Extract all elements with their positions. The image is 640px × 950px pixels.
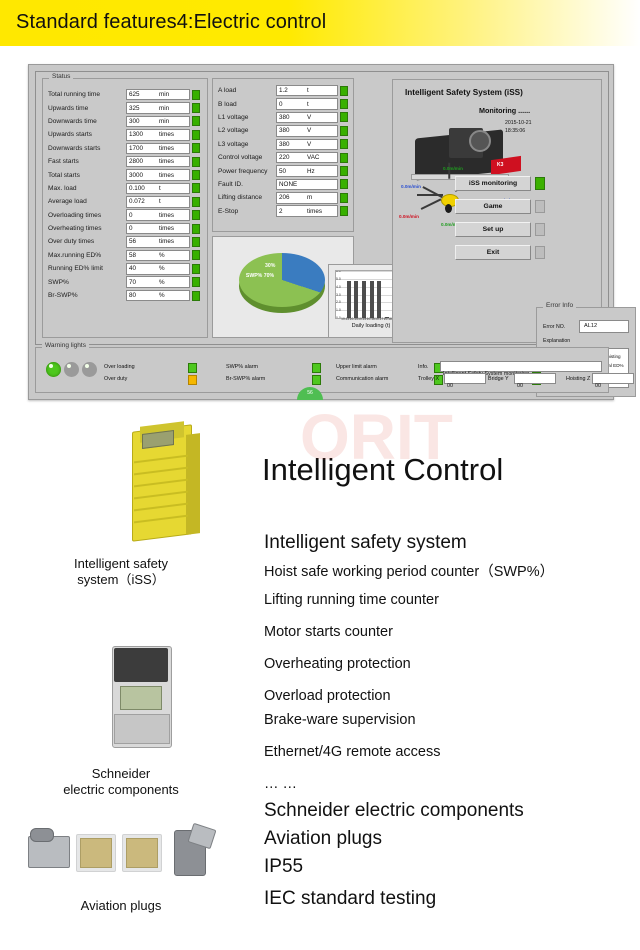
arrow-upleft [423, 186, 443, 198]
measure-led-4 [340, 139, 348, 149]
swp-pie-chart: 30% SWP% 70% [221, 241, 343, 321]
measure-led-0 [340, 86, 348, 96]
coord-field-2[interactable]: 00 [592, 373, 634, 384]
measure-value-0: 1.2 [277, 87, 307, 94]
status-field-12[interactable]: 58% [126, 250, 190, 262]
hoist-red-block [491, 156, 521, 175]
measure-value-8: 206 [277, 194, 307, 201]
status-led-2 [192, 116, 200, 126]
measure-unit-0: t [307, 87, 309, 94]
bar-3 [370, 281, 374, 318]
x-tick-0: 10-13 [341, 317, 349, 321]
status-value-3: 1300 [127, 131, 159, 138]
measure-value-5: 220 [277, 154, 307, 161]
status-field-2[interactable]: 300min [126, 116, 190, 128]
status-unit-2: min [159, 118, 169, 125]
table-row: Upwards time325min [48, 101, 203, 114]
status-field-13[interactable]: 40% [126, 263, 190, 275]
status-value-13: 40 [127, 265, 159, 272]
bar-0 [347, 281, 351, 318]
coord-label-0: Trolley X [418, 376, 439, 382]
status-label-1: Upwards time [48, 105, 126, 112]
x-tick-3: 10-16 [367, 317, 375, 321]
status-label-10: Overheating times [48, 225, 126, 232]
error-no-field[interactable]: AL12 [579, 320, 629, 333]
lamp-1 [46, 362, 61, 377]
y-tick-3: 3.0 [336, 293, 341, 297]
pie-label-blue: 30% [265, 263, 275, 269]
measure-value-9: 2 [277, 208, 307, 215]
error-info-legend: Error Info [543, 302, 576, 309]
status-label-12: Max.running ED% [48, 252, 126, 259]
status-unit-14: % [159, 279, 165, 286]
status-value-10: 0 [127, 225, 159, 232]
plug-frame-1 [76, 834, 116, 872]
status-value-1: 325 [127, 105, 159, 112]
table-row: L3 voltage380V [218, 138, 350, 151]
slide-page: Standard features4:Electric control Stat… [0, 0, 640, 950]
measure-value-7: NONE [277, 181, 307, 188]
measure-label-8: Lifting distance [218, 194, 276, 201]
panel-button-led-2 [535, 223, 545, 236]
schneider-bottom-panel [114, 714, 170, 744]
status-led-12 [192, 250, 200, 260]
table-row: Over duty times56times [48, 235, 203, 248]
caption-iss-line1: Intelligent safety [6, 556, 236, 572]
status-value-9: 0 [127, 212, 159, 219]
footer-item-2: IP55 [264, 856, 303, 878]
y-tick-2: 4.0 [336, 285, 341, 289]
caption-schneider-line1: Schneider [6, 766, 236, 782]
explanation-label: Explanation [543, 338, 570, 344]
status-label-14: SWP% [48, 279, 126, 286]
measure-label-0: A load [218, 87, 276, 94]
feature-item-6: Ethernet/4G remote access [264, 744, 441, 760]
warning-led-2 [312, 363, 321, 373]
y-tick-1: 5.0 [336, 277, 341, 281]
measure-unit-3: V [307, 127, 311, 134]
warning-label-0: Over loading [104, 364, 135, 370]
status-field-8[interactable]: 0.072t [126, 196, 190, 208]
status-field-7[interactable]: 0.100t [126, 183, 190, 195]
status-value-0: 625 [127, 91, 159, 98]
measure-label-4: L3 voltage [218, 141, 276, 148]
schneider-top-panel [114, 648, 168, 682]
footer-item-3: IEC standard testing [264, 888, 436, 910]
measure-label-1: B load [218, 101, 276, 108]
status-led-7 [192, 183, 200, 193]
measure-label-9: E-Stop [218, 208, 276, 215]
error-no-value: AL12 [580, 321, 628, 332]
caption-schneider-line2: electric components [6, 782, 236, 798]
footer-item-0: Schneider electric components [264, 800, 524, 822]
status-field-11[interactable]: 56times [126, 236, 190, 248]
hoist-drum [469, 130, 491, 152]
status-unit-7: t [159, 185, 161, 192]
hook [445, 204, 452, 213]
status-field-6[interactable]: 3000times [126, 169, 190, 181]
feature-item-5: Brake-ware supervision [264, 712, 416, 728]
caption-schneider: Schneider electric components [6, 766, 236, 798]
table-row: SWP%70% [48, 275, 203, 288]
iss-panel-title: Intelligent Safety System (iSS) [405, 88, 523, 97]
measure-value-4: 380 [277, 141, 307, 148]
measure-led-9 [340, 206, 348, 216]
status-label-0: Total running time [48, 91, 126, 98]
coord-label-2: Hoisting Z [566, 376, 590, 382]
speed-up: 0.0m/min [443, 166, 463, 171]
warning-legend: Warning lights [42, 342, 89, 349]
measure-unit-8: m [307, 194, 312, 201]
status-value-8: 0.072 [127, 198, 159, 205]
measure-label-2: L1 voltage [218, 114, 276, 121]
status-led-4 [192, 143, 200, 153]
warning-label-5: Communication alarm [336, 376, 388, 382]
table-row: Power frequency50Hz [218, 164, 350, 177]
speed-downleft: 0.0m/min [399, 214, 419, 219]
info-field[interactable]: Intelligent Safety System monitoring [440, 361, 602, 372]
feature-item-0: Hoist safe working period counter（SWP%） [264, 560, 554, 581]
warning-led-1 [188, 375, 197, 385]
measure-label-7: Fault ID. [218, 181, 276, 188]
coord-field-0[interactable]: 00 [444, 373, 486, 384]
pie-label-green: SWP% 70% [243, 273, 277, 279]
table-row: Control voltage220VAC [218, 151, 350, 164]
table-row: Total running time625min [48, 88, 203, 101]
table-row: L2 voltage380V [218, 124, 350, 137]
table-row: E-Stop2times [218, 205, 350, 218]
status-field-9[interactable]: 0times [126, 209, 190, 221]
warning-label-1: Over duty [104, 376, 127, 382]
panel-button-led-0 [535, 177, 545, 190]
panel-button-led-3 [535, 246, 545, 259]
status-unit-9: times [159, 212, 174, 219]
status-label-11: Over duty times [48, 238, 126, 245]
bar-2 [362, 281, 366, 318]
status-group-legend: Status [49, 73, 73, 80]
status-label-2: Downwards time [48, 118, 126, 125]
panel-button-game[interactable]: Game [455, 199, 531, 214]
plug-frame-2 [122, 834, 162, 872]
status-led-1 [192, 103, 200, 113]
y-axis: 6.05.04.03.02.01.00.0 [336, 271, 345, 318]
hmi-screenshot: Status Total running time625minUpwards t… [28, 64, 614, 400]
status-label-15: Br-SWP% [48, 292, 126, 299]
status-unit-4: times [159, 145, 174, 152]
coord-field-1[interactable]: 00 [514, 373, 556, 384]
table-row: Total starts3000times [48, 168, 203, 181]
table-row: L1 voltage380V [218, 111, 350, 124]
caption-plugs-line1: Aviation plugs [6, 898, 236, 914]
status-value-4: 1700 [127, 145, 159, 152]
status-value-6: 3000 [127, 172, 159, 179]
status-value-12: 58 [127, 252, 159, 259]
table-row: Average load0.072t [48, 195, 203, 208]
caption-plugs: Aviation plugs [6, 898, 236, 914]
table-row: Br-SWP%80% [48, 289, 203, 302]
measure-label-6: Power frequency [218, 168, 276, 175]
status-led-8 [192, 197, 200, 207]
measure-field-1[interactable]: 0t [276, 98, 338, 110]
status-unit-15: % [159, 292, 165, 299]
y-tick-0: 6.0 [336, 270, 341, 273]
warning-label-3: Br-SWP% alarm [226, 376, 265, 382]
status-label-3: Upwards starts [48, 131, 126, 138]
status-led-3 [192, 130, 200, 140]
lamp-2 [64, 362, 79, 377]
table-row: Lifting distance206m [218, 191, 350, 204]
table-row: Upwards starts1300times [48, 128, 203, 141]
status-field-1[interactable]: 325min [126, 102, 190, 114]
section-title: Intelligent safety system [264, 532, 467, 554]
warning-led-3 [312, 375, 321, 385]
measure-led-2 [340, 112, 348, 122]
plug-neck-1 [30, 828, 54, 842]
measure-unit-4: V [307, 141, 311, 148]
page-title: Standard features4:Electric control [16, 11, 326, 34]
status-value-15: 80 [127, 292, 159, 299]
measure-field-6[interactable]: 50Hz [276, 165, 338, 177]
pie-slices [239, 253, 325, 307]
y-tick-6: 0.0 [336, 316, 341, 319]
status-led-6 [192, 170, 200, 180]
measurement-row-list: A load1.2tB load0tL1 voltage380VL2 volta… [218, 84, 350, 218]
coord-value-0: 00 [445, 383, 453, 389]
warning-lights-bar: Warning lights Over loadingOver dutySWP%… [35, 347, 609, 393]
feature-item-3: Overheating protection [264, 656, 411, 672]
status-field-3[interactable]: 1300times [126, 129, 190, 141]
status-field-10[interactable]: 0times [126, 223, 190, 235]
measurement-group: A load1.2tB load0tL1 voltage380VL2 volta… [212, 78, 354, 232]
measure-led-8 [340, 193, 348, 203]
status-row-list: Total running time625minUpwards time325m… [48, 88, 203, 302]
status-label-13: Running ED% limit [48, 265, 126, 272]
table-row: Fault ID.NONE [218, 178, 350, 191]
table-row: Overloading times0times [48, 209, 203, 222]
caption-iss: Intelligent safety system（iSS） [6, 556, 236, 588]
schneider-display [120, 686, 162, 710]
schneider-device-image [104, 640, 178, 752]
error-no-label: Error NO. [543, 324, 565, 330]
table-row: A load1.2t [218, 84, 350, 97]
status-field-15[interactable]: 80% [126, 290, 190, 302]
measure-unit-5: VAC [307, 154, 319, 161]
status-led-9 [192, 210, 200, 220]
feature-item-1: Lifting running time counter [264, 592, 439, 608]
table-row: Overheating times0times [48, 222, 203, 235]
status-group: Status Total running time625minUpwards t… [42, 78, 208, 338]
status-field-0[interactable]: 625min [126, 89, 190, 101]
panel-button-exit[interactable]: Exit [455, 245, 531, 260]
status-value-2: 300 [127, 118, 159, 125]
x-tick-1: 10-14 [350, 317, 358, 321]
panel-button-led-1 [535, 200, 545, 213]
info-label: Info. [418, 364, 429, 370]
y-tick-5: 1.0 [336, 308, 341, 312]
lamp-3 [82, 362, 97, 377]
status-value-5: 2800 [127, 158, 159, 165]
footer-item-1: Aviation plugs [264, 828, 382, 850]
measure-led-6 [340, 166, 348, 176]
arrow-downleft [421, 198, 441, 209]
panel-button-set-up[interactable]: Set up [455, 222, 531, 237]
status-unit-0: min [159, 91, 169, 98]
status-unit-3: times [159, 131, 174, 138]
measure-led-3 [340, 126, 348, 136]
panel-button-iss-monitoring[interactable]: iSS monitoring [455, 176, 531, 191]
table-row: Downwards starts1700times [48, 142, 203, 155]
aviation-plugs-image [22, 822, 228, 890]
speed-left: 0.0m/min [401, 184, 421, 189]
status-unit-12: % [159, 252, 165, 259]
measure-field-9[interactable]: 2times [276, 205, 338, 217]
status-unit-8: t [159, 198, 161, 205]
measure-value-3: 380 [277, 127, 307, 134]
status-led-14 [192, 277, 200, 287]
bar-4 [377, 281, 381, 318]
table-row: Max. load0.100t [48, 182, 203, 195]
table-row: Downwards time300min [48, 115, 203, 128]
table-row: Fast starts2800times [48, 155, 203, 168]
status-unit-10: times [159, 225, 174, 232]
measure-unit-2: V [307, 114, 311, 121]
status-field-5[interactable]: 2800times [126, 156, 190, 168]
x-tick-5: 10-18 [384, 317, 392, 321]
status-label-8: Average load [48, 198, 126, 205]
status-led-5 [192, 157, 200, 167]
coord-value-2: 00 [593, 383, 601, 389]
status-led-0 [192, 90, 200, 100]
coord-label-1: Bridge Y [488, 376, 509, 382]
measure-value-2: 380 [277, 114, 307, 121]
bar-1 [354, 281, 358, 318]
measure-field-0[interactable]: 1.2t [276, 85, 338, 97]
feature-item-2: Motor starts counter [264, 624, 393, 640]
status-value-7: 0.100 [127, 185, 159, 192]
monitoring-status: Monitoring ...... [479, 106, 530, 115]
status-value-14: 70 [127, 279, 159, 286]
measure-unit-1: t [307, 101, 309, 108]
warning-label-4: Upper limit alarm [336, 364, 377, 370]
main-heading: Intelligent Control [262, 452, 503, 488]
warning-led-0 [188, 363, 197, 373]
status-led-10 [192, 224, 200, 234]
measure-unit-6: Hz [307, 168, 315, 175]
status-unit-11: times [159, 238, 174, 245]
measure-value-6: 50 [277, 168, 307, 175]
measure-label-5: Control voltage [218, 154, 276, 161]
status-unit-13: % [159, 265, 165, 272]
measure-field-5[interactable]: 220VAC [276, 152, 338, 164]
measure-field-7[interactable]: NONE [276, 179, 338, 191]
measure-field-4[interactable]: 380V [276, 139, 338, 151]
iss-device-image [118, 418, 204, 546]
status-field-14[interactable]: 70% [126, 276, 190, 288]
measure-led-7 [340, 179, 348, 189]
status-label-6: Total starts [48, 172, 126, 179]
iss-device-side [186, 433, 200, 535]
warning-label-2: SWP% alarm [226, 364, 258, 370]
status-led-13 [192, 264, 200, 274]
x-tick-4: 10-17 [375, 317, 383, 321]
measure-led-1 [340, 99, 348, 109]
status-unit-1: min [159, 105, 169, 112]
feature-item-4: Overload protection [264, 688, 391, 704]
feature-item-7: … … [264, 776, 297, 792]
table-row: Max.running ED%58% [48, 249, 203, 262]
table-row: Running ED% limit40% [48, 262, 203, 275]
measure-led-5 [340, 153, 348, 163]
measure-unit-9: times [307, 208, 322, 215]
caption-iss-line2: system（iSS） [6, 572, 236, 588]
hoist-brand-label: K3 [497, 162, 503, 168]
status-label-5: Fast starts [48, 158, 126, 165]
status-label-7: Max. load [48, 185, 126, 192]
measure-value-1: 0 [277, 101, 307, 108]
measure-field-8[interactable]: 206m [276, 192, 338, 204]
status-unit-6: times [159, 172, 174, 179]
table-row: B load0t [218, 97, 350, 110]
status-label-9: Overloading times [48, 212, 126, 219]
y-tick-4: 2.0 [336, 300, 341, 304]
status-field-4[interactable]: 1700times [126, 143, 190, 155]
measure-field-3[interactable]: 380V [276, 125, 338, 137]
header-banner: Standard features4:Electric control [0, 0, 640, 46]
status-label-4: Downwards starts [48, 145, 126, 152]
status-led-11 [192, 237, 200, 247]
hmi-main-area: Status Total running time625minUpwards t… [35, 71, 609, 345]
coord-value-1: 00 [515, 383, 523, 389]
status-unit-5: times [159, 158, 174, 165]
measure-field-2[interactable]: 380V [276, 112, 338, 124]
x-tick-2: 10-15 [358, 317, 366, 321]
measure-label-3: L2 voltage [218, 127, 276, 134]
status-value-11: 56 [127, 238, 159, 245]
status-led-15 [192, 291, 200, 301]
